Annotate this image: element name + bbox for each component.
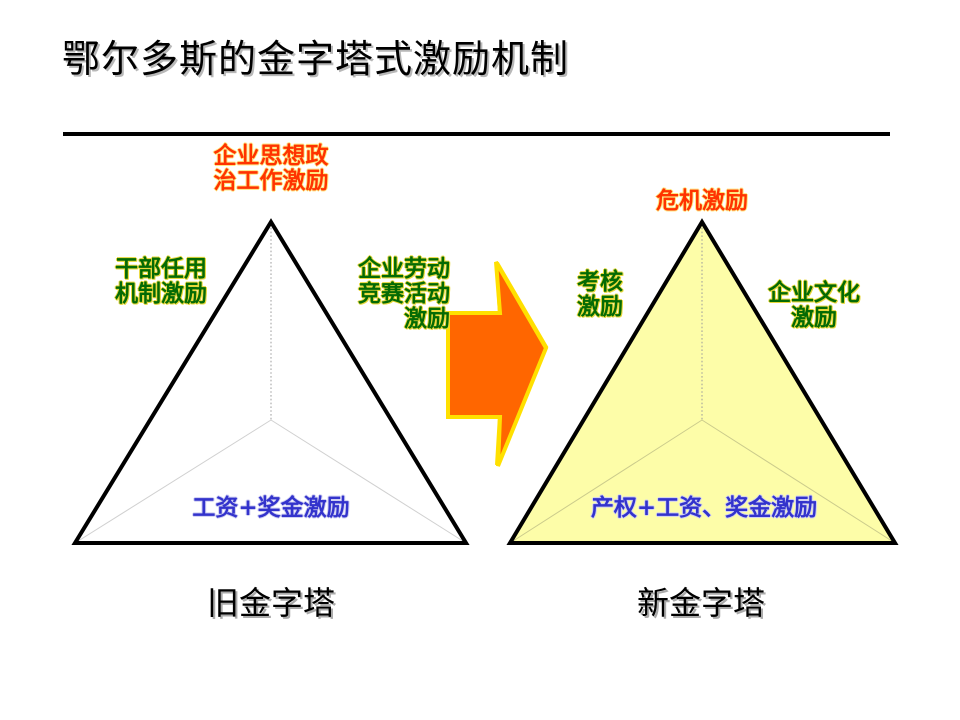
- slide-canvas: 鄂尔多斯的金字塔式激励机制 企业思想政: [0, 0, 960, 720]
- transition-arrow-icon: [448, 262, 546, 466]
- new-pyramid-apex-label: 危机激励: [606, 189, 798, 214]
- new-pyramid-left-label: 考核 激励: [560, 270, 640, 320]
- old-pyramid-right-label: 企业劳动 竞赛活动 激励: [318, 257, 450, 331]
- old-pyramid-caption: 旧金字塔: [170, 578, 372, 624]
- old-pyramid-apex-label: 企业思想政 治工作激励: [175, 144, 367, 194]
- diagram-artwork: [0, 0, 960, 720]
- old-pyramid-left-label: 干部任用 机制激励: [88, 257, 234, 307]
- old-pyramid-base-label: 工资+奖金激励: [156, 496, 386, 521]
- new-pyramid-caption: 新金字塔: [600, 578, 802, 624]
- new-pyramid-right-label: 企业文化 激励: [762, 281, 866, 331]
- new-pyramid-base-label: 产权+工资、奖金激励: [548, 496, 860, 521]
